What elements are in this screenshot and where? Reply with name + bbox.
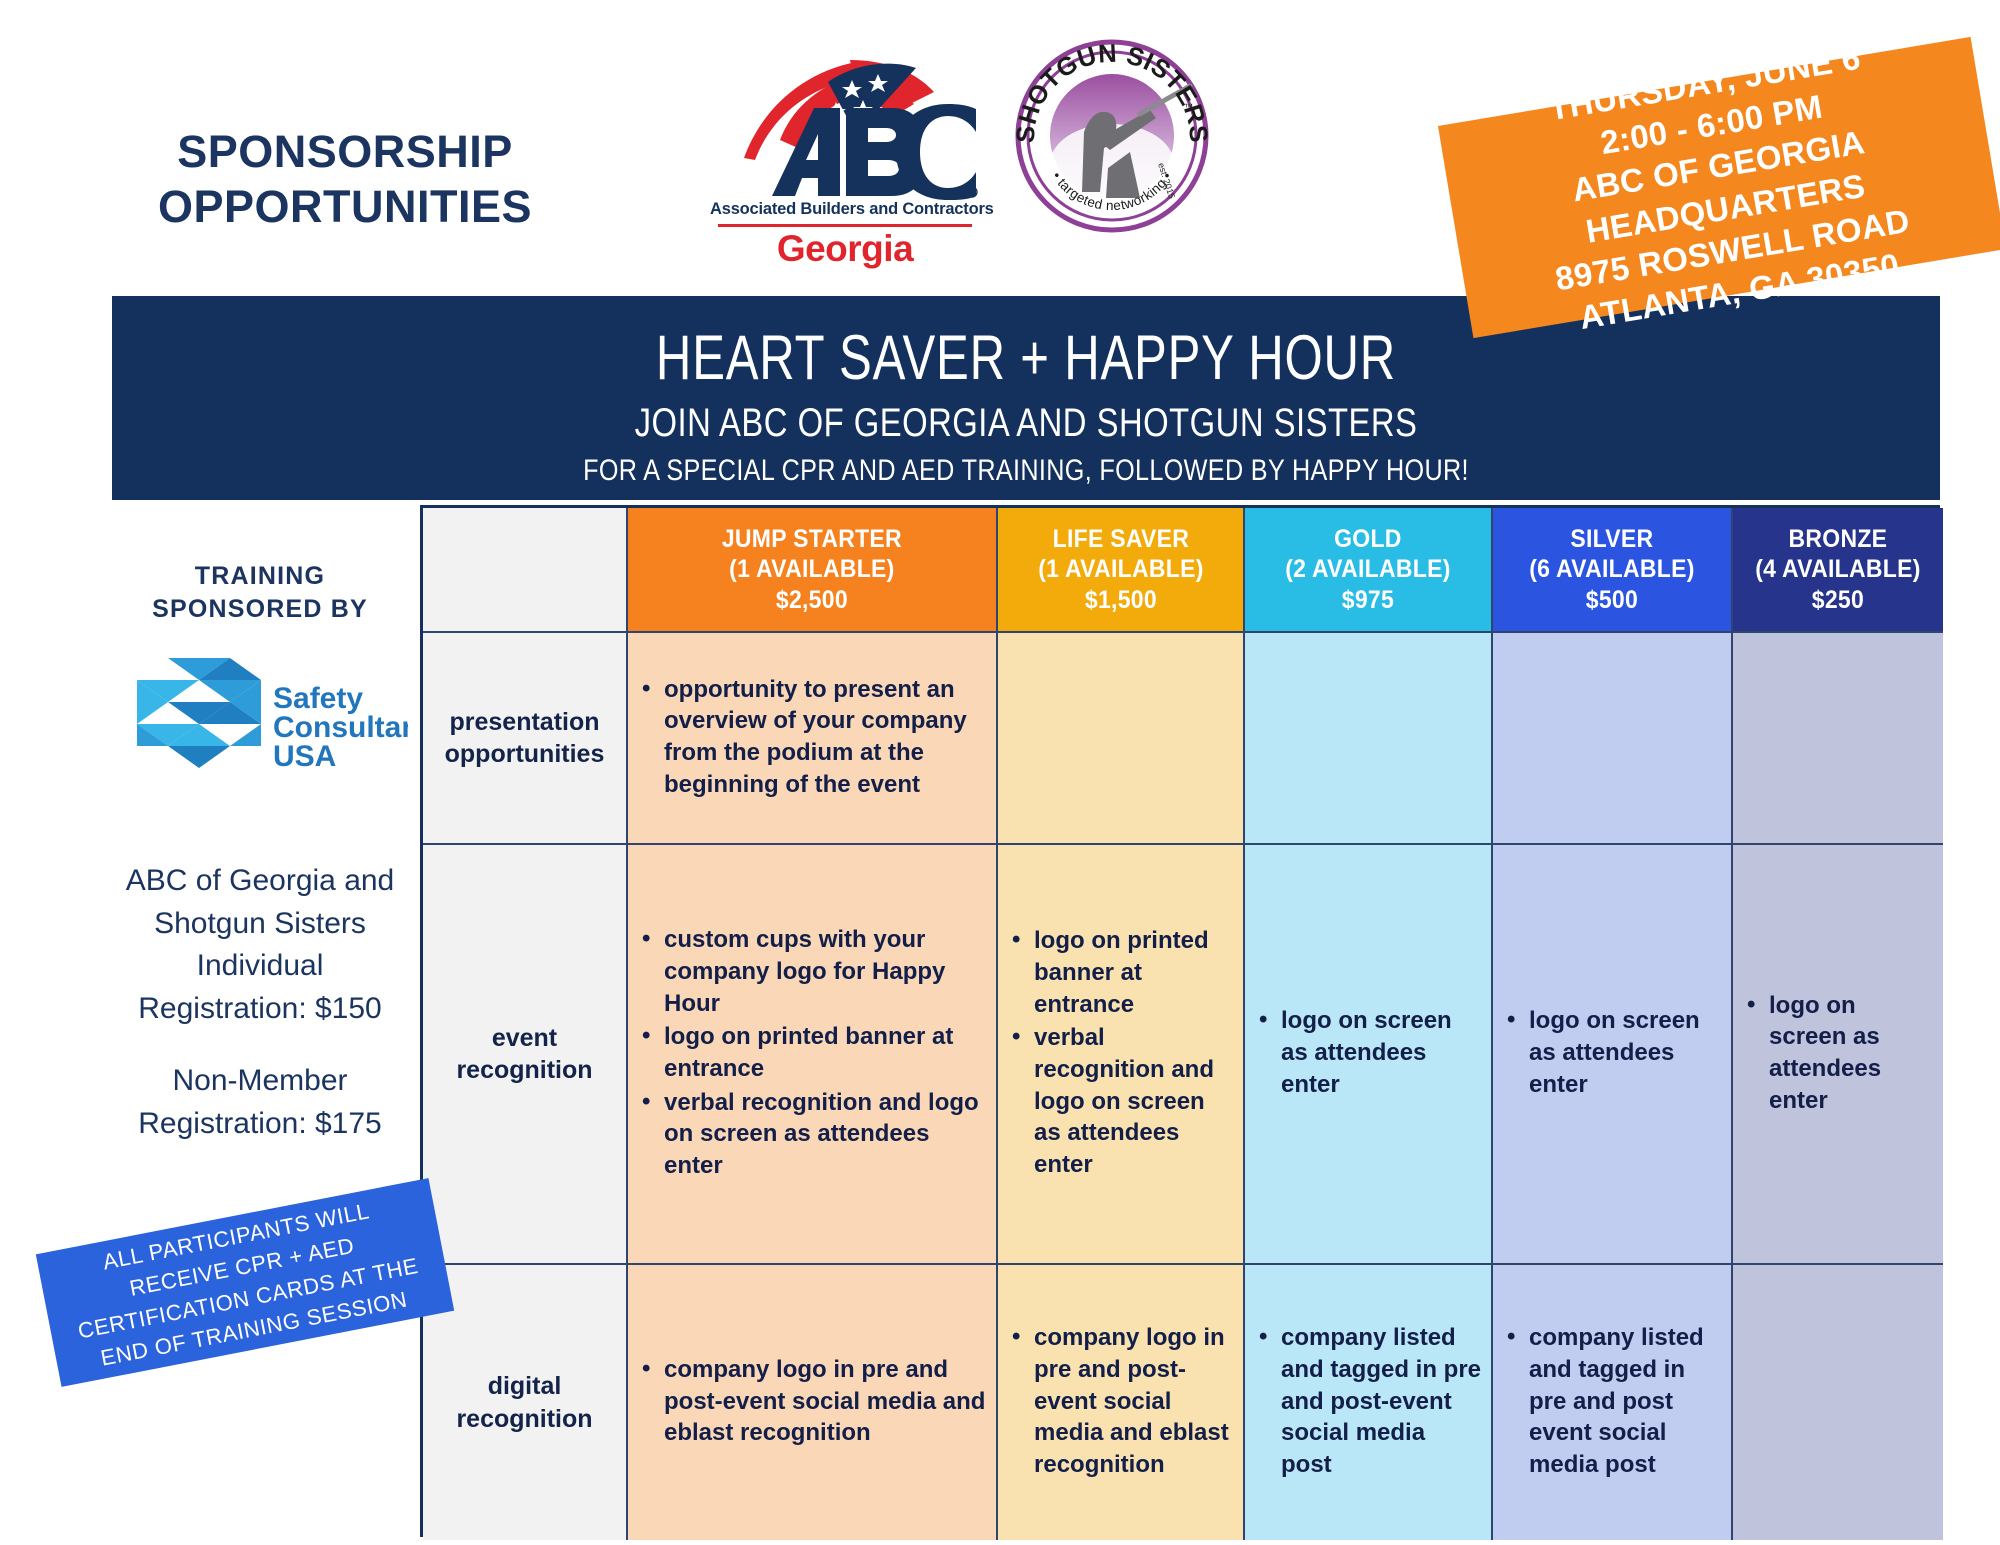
training-sponsor-line1: TRAINING — [110, 560, 410, 593]
tier-name: LIFE SAVER — [1038, 524, 1203, 555]
member-reg-line3: Individual — [100, 945, 420, 988]
tier-header-gold: GOLD(2 AVAILABLE)$975 — [1245, 508, 1493, 633]
tier-header-bronze: BRONZE(4 AVAILABLE)$250 — [1733, 508, 1943, 633]
svg-text:R: R — [970, 191, 975, 197]
benefit-cell-life-saver-digital: company logo in pre and post-event socia… — [998, 1265, 1245, 1540]
abc-logo-rule — [718, 224, 972, 227]
shotgun-sisters-tm: ™ — [1184, 102, 1193, 112]
abc-logo-tagline: Associated Builders and Contractors — [710, 200, 980, 219]
safety-consultants-usa-logo: Safety Consultants USA — [108, 650, 408, 785]
tier-availability: (4 AVAILABLE) — [1755, 554, 1920, 585]
tier-price: $500 — [1529, 585, 1694, 616]
benefit-cell-jump-starter-digital: company logo in pre and post-event socia… — [628, 1265, 998, 1540]
tier-name: GOLD — [1285, 524, 1450, 555]
certification-banner: ALL PARTICIPANTS WILL RECEIVE CPR + AED … — [36, 1178, 454, 1387]
tier-header-jump-starter: JUMP STARTER(1 AVAILABLE)$2,500 — [628, 508, 998, 633]
hero-banner: HEART SAVER + HAPPY HOUR JOIN ABC OF GEO… — [112, 296, 1940, 500]
benefit-item: logo on printed banner at entrance — [1004, 925, 1233, 1020]
training-sponsor-line2: SPONSORED BY — [110, 593, 410, 626]
benefit-cell-life-saver-presentation — [998, 633, 1245, 845]
benefit-item: company listed and tagged in pre and pos… — [1499, 1322, 1721, 1480]
tier-header-silver: SILVER(6 AVAILABLE)$500 — [1493, 508, 1733, 633]
benefit-cell-gold-digital: company listed and tagged in pre and pos… — [1245, 1265, 1493, 1540]
row-label-digital: digitalrecognition — [423, 1265, 628, 1540]
table-corner-cell — [423, 508, 628, 633]
tier-availability: (1 AVAILABLE) — [1038, 554, 1203, 585]
tier-price: $975 — [1285, 585, 1450, 616]
page-title: SPONSORSHIP OPPORTUNITIES — [130, 125, 560, 235]
tier-availability: (6 AVAILABLE) — [1529, 554, 1694, 585]
benefit-item: custom cups with your company logo for H… — [634, 924, 986, 1019]
tier-header-life-saver: LIFE SAVER(1 AVAILABLE)$1,500 — [998, 508, 1245, 633]
benefit-cell-silver-event: logo on screen as attendees enter — [1493, 845, 1733, 1265]
hero-subtitle: JOIN ABC OF GEORGIA AND SHOTGUN SISTERS — [277, 400, 1776, 446]
row-label-line2: opportunities — [445, 738, 605, 771]
abc-logo-mark: R — [710, 60, 980, 200]
abc-georgia-logo: R Associated Builders and Contractors Ge… — [710, 60, 980, 250]
flyer-page: SPONSORSHIP OPPORTUNITIES R Associated B… — [0, 0, 2000, 1545]
benefit-cell-silver-presentation — [1493, 633, 1733, 845]
benefit-cell-life-saver-event: logo on printed banner at entranceverbal… — [998, 845, 1245, 1265]
row-label-event: eventrecognition — [423, 845, 628, 1265]
row-label-line1: presentation — [445, 706, 605, 739]
page-title-line1: SPONSORSHIP — [130, 125, 560, 180]
benefit-cell-gold-presentation — [1245, 633, 1493, 845]
shotgun-sisters-badge: SHOTGUN SISTERS • targeted networking • … — [1012, 36, 1212, 236]
row-label-line2: recognition — [456, 1403, 592, 1436]
hero-tagline: FOR A SPECIAL CPR AND AED TRAINING, FOLL… — [258, 454, 1794, 489]
abc-logo-chapter: Georgia — [710, 228, 980, 270]
tier-price: $2,500 — [722, 585, 902, 616]
benefit-cell-jump-starter-event: custom cups with your company logo for H… — [628, 845, 998, 1265]
tier-name: BRONZE — [1755, 524, 1920, 555]
spacer — [100, 1030, 420, 1060]
event-date-banner: THURSDAY, JUNE 6 2:00 - 6:00 PM ABC OF G… — [1438, 37, 2000, 338]
benefit-item: logo on printed banner at entrance — [634, 1021, 986, 1084]
nonmember-reg-line2: Registration: $175 — [100, 1103, 420, 1146]
tier-availability: (1 AVAILABLE) — [722, 554, 902, 585]
tier-price: $250 — [1755, 585, 1920, 616]
benefit-cell-jump-starter-presentation: opportunity to present an overview of yo… — [628, 633, 998, 845]
page-title-line2: OPPORTUNITIES — [130, 180, 560, 235]
sponsorship-table: JUMP STARTER(1 AVAILABLE)$2,500LIFE SAVE… — [420, 505, 1940, 1537]
row-label-line1: digital — [456, 1370, 592, 1403]
member-reg-line4: Registration: $150 — [100, 988, 420, 1031]
benefit-cell-bronze-presentation — [1733, 633, 1943, 845]
member-reg-line1: ABC of Georgia and — [100, 860, 420, 903]
benefit-item: company logo in pre and post-event socia… — [1004, 1322, 1233, 1480]
benefit-item: logo on screen as attendees enter — [1499, 1005, 1721, 1100]
safety-logo-line3: USA — [273, 740, 336, 773]
nonmember-reg-line1: Non-Member — [100, 1060, 420, 1103]
benefit-item: opportunity to present an overview of yo… — [634, 674, 986, 801]
benefit-cell-bronze-digital — [1733, 1265, 1943, 1540]
row-label-line2: recognition — [456, 1054, 592, 1087]
row-label-line1: event — [456, 1022, 592, 1055]
benefit-item: logo on screen as attendees enter — [1739, 990, 1933, 1117]
benefit-item: verbal recognition and logo on screen as… — [634, 1087, 986, 1182]
benefit-item: verbal recognition and logo on screen as… — [1004, 1022, 1233, 1180]
row-label-presentation: presentationopportunities — [423, 633, 628, 845]
benefit-item: company logo in pre and post-event socia… — [634, 1354, 986, 1449]
tier-price: $1,500 — [1038, 585, 1203, 616]
benefit-item: logo on screen as attendees enter — [1251, 1005, 1481, 1100]
safety-consultants-mark: Safety Consultants USA — [108, 650, 408, 785]
benefit-cell-gold-event: logo on screen as attendees enter — [1245, 845, 1493, 1265]
tier-availability: (2 AVAILABLE) — [1285, 554, 1450, 585]
shotgun-sisters-logo: SHOTGUN SISTERS • targeted networking • … — [1012, 36, 1212, 236]
benefit-item: company listed and tagged in pre and pos… — [1251, 1322, 1481, 1480]
training-sponsor-label: TRAINING SPONSORED BY — [110, 560, 410, 625]
benefit-cell-silver-digital: company listed and tagged in pre and pos… — [1493, 1265, 1733, 1540]
benefit-cell-bronze-event: logo on screen as attendees enter — [1733, 845, 1943, 1265]
member-reg-line2: Shotgun Sisters — [100, 903, 420, 946]
tier-name: SILVER — [1529, 524, 1694, 555]
registration-pricing: ABC of Georgia and Shotgun Sisters Indiv… — [100, 860, 420, 1146]
tier-name: JUMP STARTER — [722, 524, 902, 555]
